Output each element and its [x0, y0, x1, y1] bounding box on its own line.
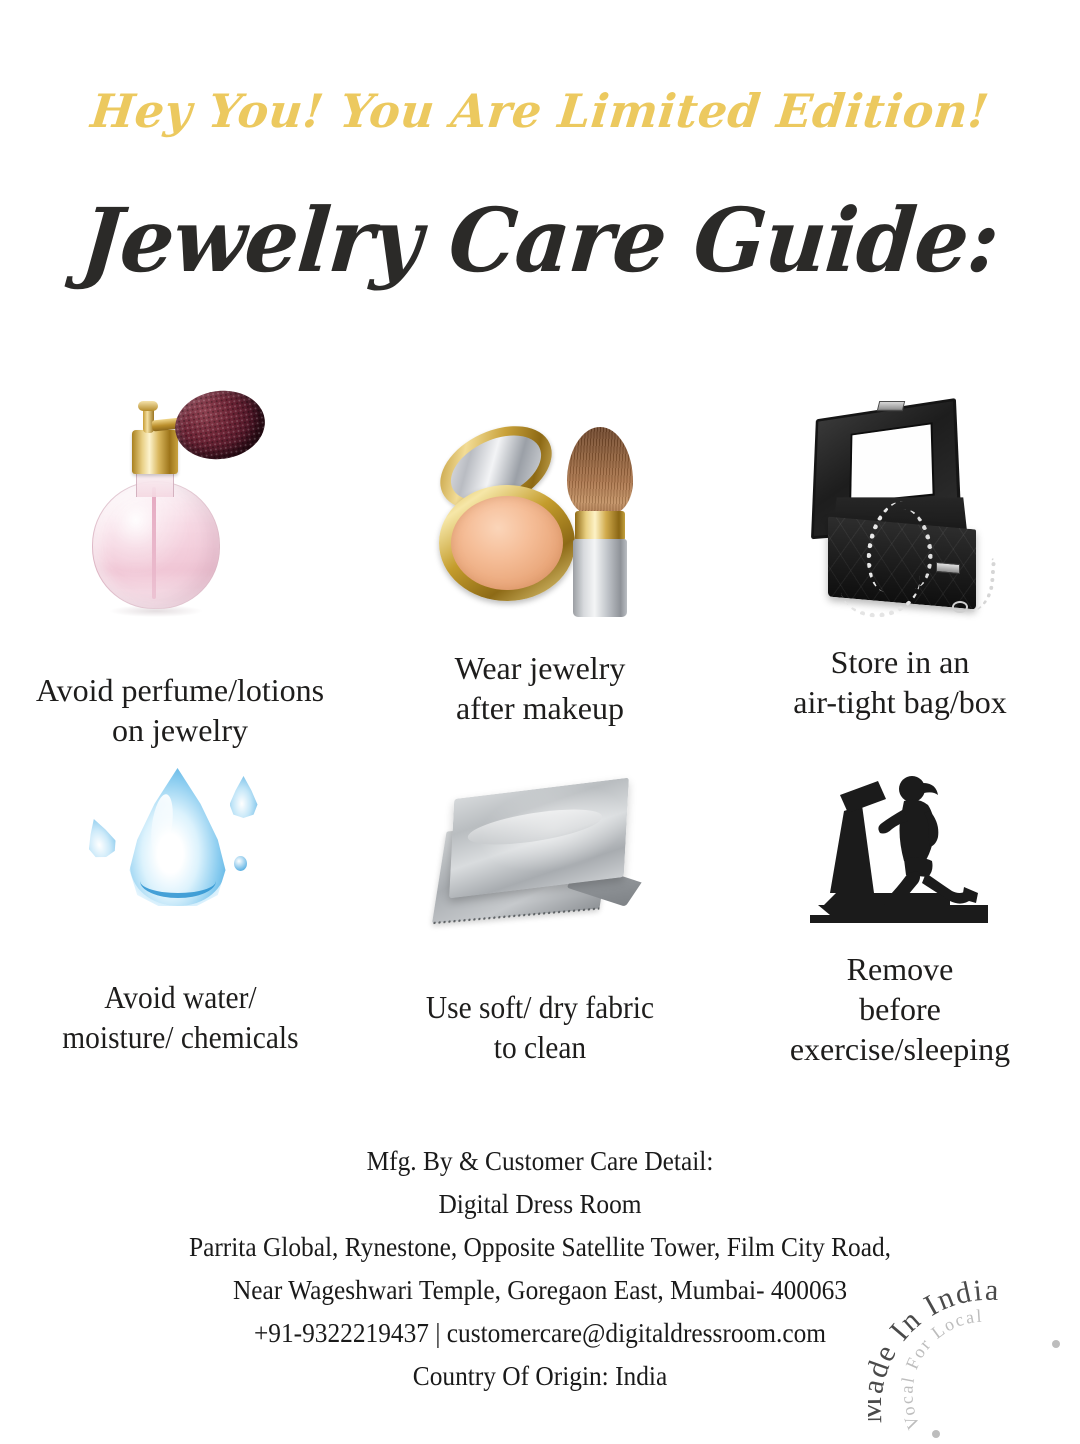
- microfiber-cloth-icon: [433, 750, 648, 935]
- jewelry-box-icon: [790, 380, 1010, 620]
- footer-line: Digital Dress Room: [32, 1183, 1047, 1226]
- care-tip-remove-before-exercise: Remove before exercise/sleeping: [720, 750, 1080, 1070]
- eyebrow-tagline: Hey You! You Are Limited Edition!: [0, 84, 1080, 138]
- care-tip-wear-after-makeup: Wear jewelry after makeup: [360, 380, 720, 750]
- care-tip-caption: Wear jewelry after makeup: [455, 620, 626, 728]
- jewelry-care-guide-page: Hey You! You Are Limited Edition! Jewelr…: [0, 0, 1080, 1440]
- water-drop-icon: [78, 750, 283, 935]
- badge-dot-right: [1052, 1340, 1060, 1348]
- care-tip-caption: Use soft/ dry fabric to clean: [426, 935, 654, 1067]
- care-tips-row-2: Avoid water/ moisture/ chemicals Use sof…: [0, 750, 1080, 1070]
- care-tip-store-airtight: Store in an air-tight bag/box: [720, 380, 1080, 750]
- care-tips-row-1: Avoid perfume/lotions on jewelry: [0, 380, 1080, 750]
- perfume-bottle-icon: [80, 380, 280, 618]
- page-title: Jewelry Care Guide:: [17, 192, 1062, 288]
- footer-line: Mfg. By & Customer Care Detail:: [32, 1140, 1047, 1183]
- care-tip-caption: Avoid perfume/lotions on jewelry: [36, 618, 324, 750]
- care-tip-avoid-water: Avoid water/ moisture/ chemicals: [0, 750, 360, 1070]
- care-tip-caption: Store in an air-tight bag/box: [793, 620, 1007, 722]
- makeup-compact-brush-icon: [435, 380, 645, 620]
- badge-dot-left: [932, 1430, 940, 1438]
- made-in-india-badge: Made In India Vocal For Local: [868, 1258, 1076, 1444]
- care-tips-grid: Avoid perfume/lotions on jewelry: [0, 380, 1080, 1070]
- treadmill-runner-icon: [800, 750, 1000, 935]
- care-tip-use-soft-fabric: Use soft/ dry fabric to clean: [360, 750, 720, 1070]
- care-tip-caption: Avoid water/ moisture/ chemicals: [62, 935, 298, 1057]
- badge-outer-text: Made In India: [868, 1274, 1001, 1424]
- care-tip-avoid-perfume: Avoid perfume/lotions on jewelry: [0, 380, 360, 750]
- care-tip-caption: Remove before exercise/sleeping: [790, 935, 1010, 1069]
